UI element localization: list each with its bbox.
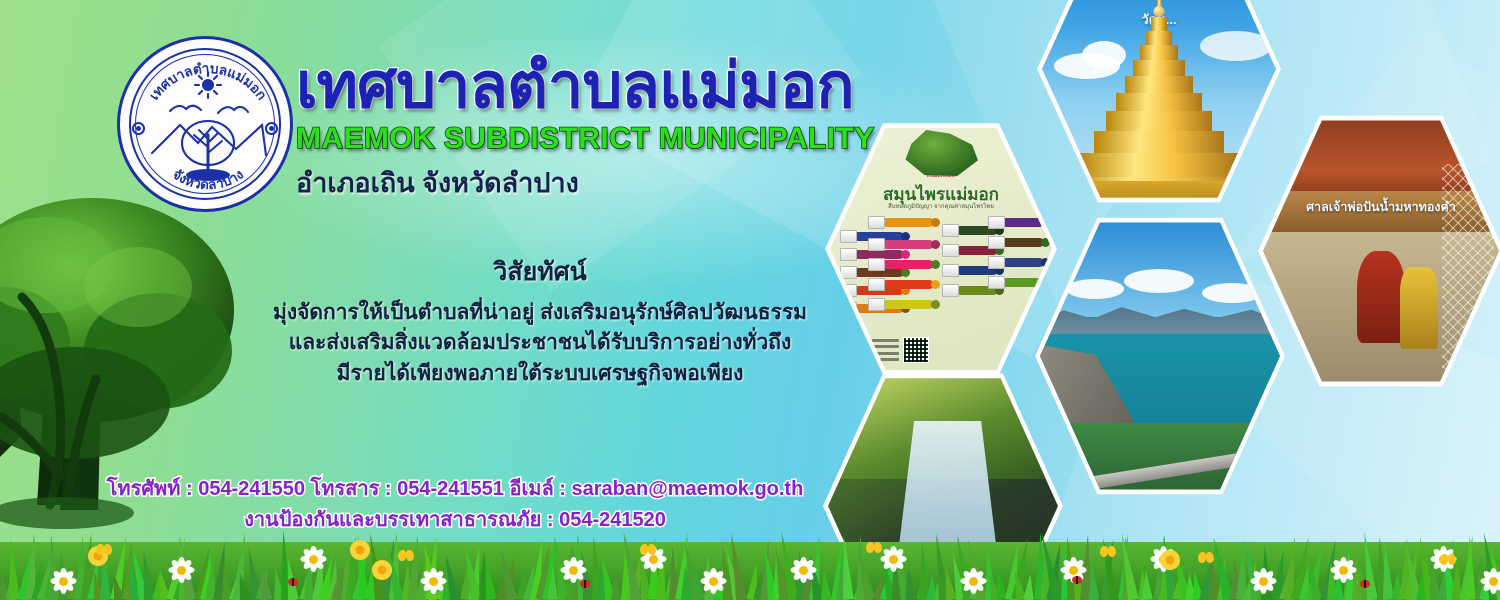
product-row bbox=[868, 257, 940, 272]
hex-pagoda-inner: วัดท... bbox=[1042, 0, 1276, 203]
daisy-flower bbox=[168, 557, 194, 583]
butterfly-icon bbox=[640, 544, 656, 556]
daisy-flower bbox=[1250, 568, 1276, 594]
cloud-shape bbox=[1124, 269, 1194, 293]
hex-shrine-inner: ศาลเจ้าพ่อปันน้ำมหาทองคำ bbox=[1263, 115, 1499, 387]
herbal-poster-footer bbox=[854, 337, 929, 363]
daisy-flower bbox=[700, 568, 726, 594]
herbal-poster-subtitle: สืบทอดภูมิปัญญา จากคุณค่าสมุนไพรไทย bbox=[830, 201, 1052, 211]
product-row bbox=[988, 275, 1050, 290]
grass-decoration bbox=[0, 522, 1500, 600]
municipality-emblem: เทศบาลตำบลแม่มอก จังหวัดลำปาง bbox=[117, 36, 293, 212]
pagoda-finial bbox=[1154, 6, 1165, 17]
ladybug-icon bbox=[580, 580, 590, 588]
product-row bbox=[868, 237, 940, 252]
contact-swatches bbox=[854, 338, 899, 363]
daisy-flower bbox=[300, 546, 326, 572]
bird-icon bbox=[218, 107, 248, 113]
hex-shrine-photo: ศาลเจ้าพ่อปันน้ำมหาทองคำ bbox=[1258, 110, 1500, 392]
butterfly-icon bbox=[1198, 552, 1214, 564]
hex-reservoir-photo bbox=[1035, 212, 1285, 500]
vegetation-area bbox=[1040, 423, 1280, 495]
sun-icon bbox=[202, 79, 214, 91]
shrine-idol bbox=[1357, 251, 1404, 343]
page-title-thai: เทศบาลตำบลแม่มอก bbox=[296, 54, 956, 118]
butterfly-icon bbox=[866, 542, 882, 554]
butterfly-icon bbox=[96, 544, 112, 556]
daisy-flower bbox=[880, 546, 906, 572]
butterfly-icon bbox=[398, 550, 414, 562]
pagoda-shape bbox=[1042, 0, 1276, 203]
butterfly-icon bbox=[1440, 554, 1456, 566]
yellow-flower bbox=[372, 560, 392, 580]
hex-pagoda-photo: วัดท... bbox=[1037, 0, 1281, 208]
bird-icon bbox=[170, 106, 201, 111]
daisy-flower bbox=[960, 568, 986, 594]
shrine-offerings bbox=[1400, 267, 1438, 349]
vision-line: มุ่งจัดการให้เป็นตำบลที่น่าอยู่ ส่งเสริม… bbox=[240, 298, 840, 328]
herbal-product-grid bbox=[838, 215, 1044, 345]
daisy-flower bbox=[50, 568, 76, 594]
shrine-fence bbox=[1442, 164, 1494, 376]
product-row bbox=[988, 255, 1050, 270]
daisy-flower bbox=[1330, 557, 1356, 583]
yellow-flower bbox=[350, 540, 370, 560]
vision-heading: วิสัยทัศน์ bbox=[240, 252, 840, 292]
cloud-shape bbox=[1202, 283, 1262, 303]
daisy-flower bbox=[1480, 568, 1500, 594]
product-row bbox=[868, 297, 940, 312]
yellow-flower bbox=[1160, 550, 1180, 570]
product-row bbox=[868, 215, 940, 230]
vision-block: วิสัยทัศน์ มุ่งจัดการให้เป็นตำบลที่น่าอย… bbox=[240, 252, 840, 389]
hex-reservoir-inner bbox=[1040, 217, 1280, 495]
municipality-banner: เทศบาลตำบลแม่มอก จังหวัดลำปาง bbox=[0, 0, 1500, 600]
vision-line: มีรายได้เพียงพอภายใต้ระบบเศรษฐกิจพอเพียง bbox=[240, 359, 840, 389]
pagoda-base bbox=[1042, 181, 1276, 203]
emblem-artwork bbox=[146, 69, 270, 187]
contact-phone-fax-email: โทรศัพท์ : 054-241550 โทรสาร : 054-24155… bbox=[60, 474, 850, 505]
product-row bbox=[988, 235, 1050, 250]
daisy-flower bbox=[790, 557, 816, 583]
ladybug-icon bbox=[288, 578, 298, 586]
daisy-flower bbox=[420, 568, 446, 594]
product-row bbox=[868, 277, 940, 292]
daisy-flower bbox=[560, 557, 586, 583]
page-title-english: MAEMOK SUBDISTRICT MUNICIPALITY bbox=[296, 122, 956, 156]
butterfly-icon bbox=[1100, 546, 1116, 558]
qr-code bbox=[903, 337, 929, 363]
ladybug-icon bbox=[1072, 576, 1082, 584]
ladybug-icon bbox=[1360, 580, 1370, 588]
cloud-shape bbox=[1066, 279, 1124, 299]
herbal-logo: แม่มอก maemok bbox=[904, 130, 978, 179]
vision-line: และส่งเสริมสิ่งแวดล้อมประชาชนได้รับบริกา… bbox=[240, 328, 840, 358]
product-row bbox=[988, 215, 1050, 230]
